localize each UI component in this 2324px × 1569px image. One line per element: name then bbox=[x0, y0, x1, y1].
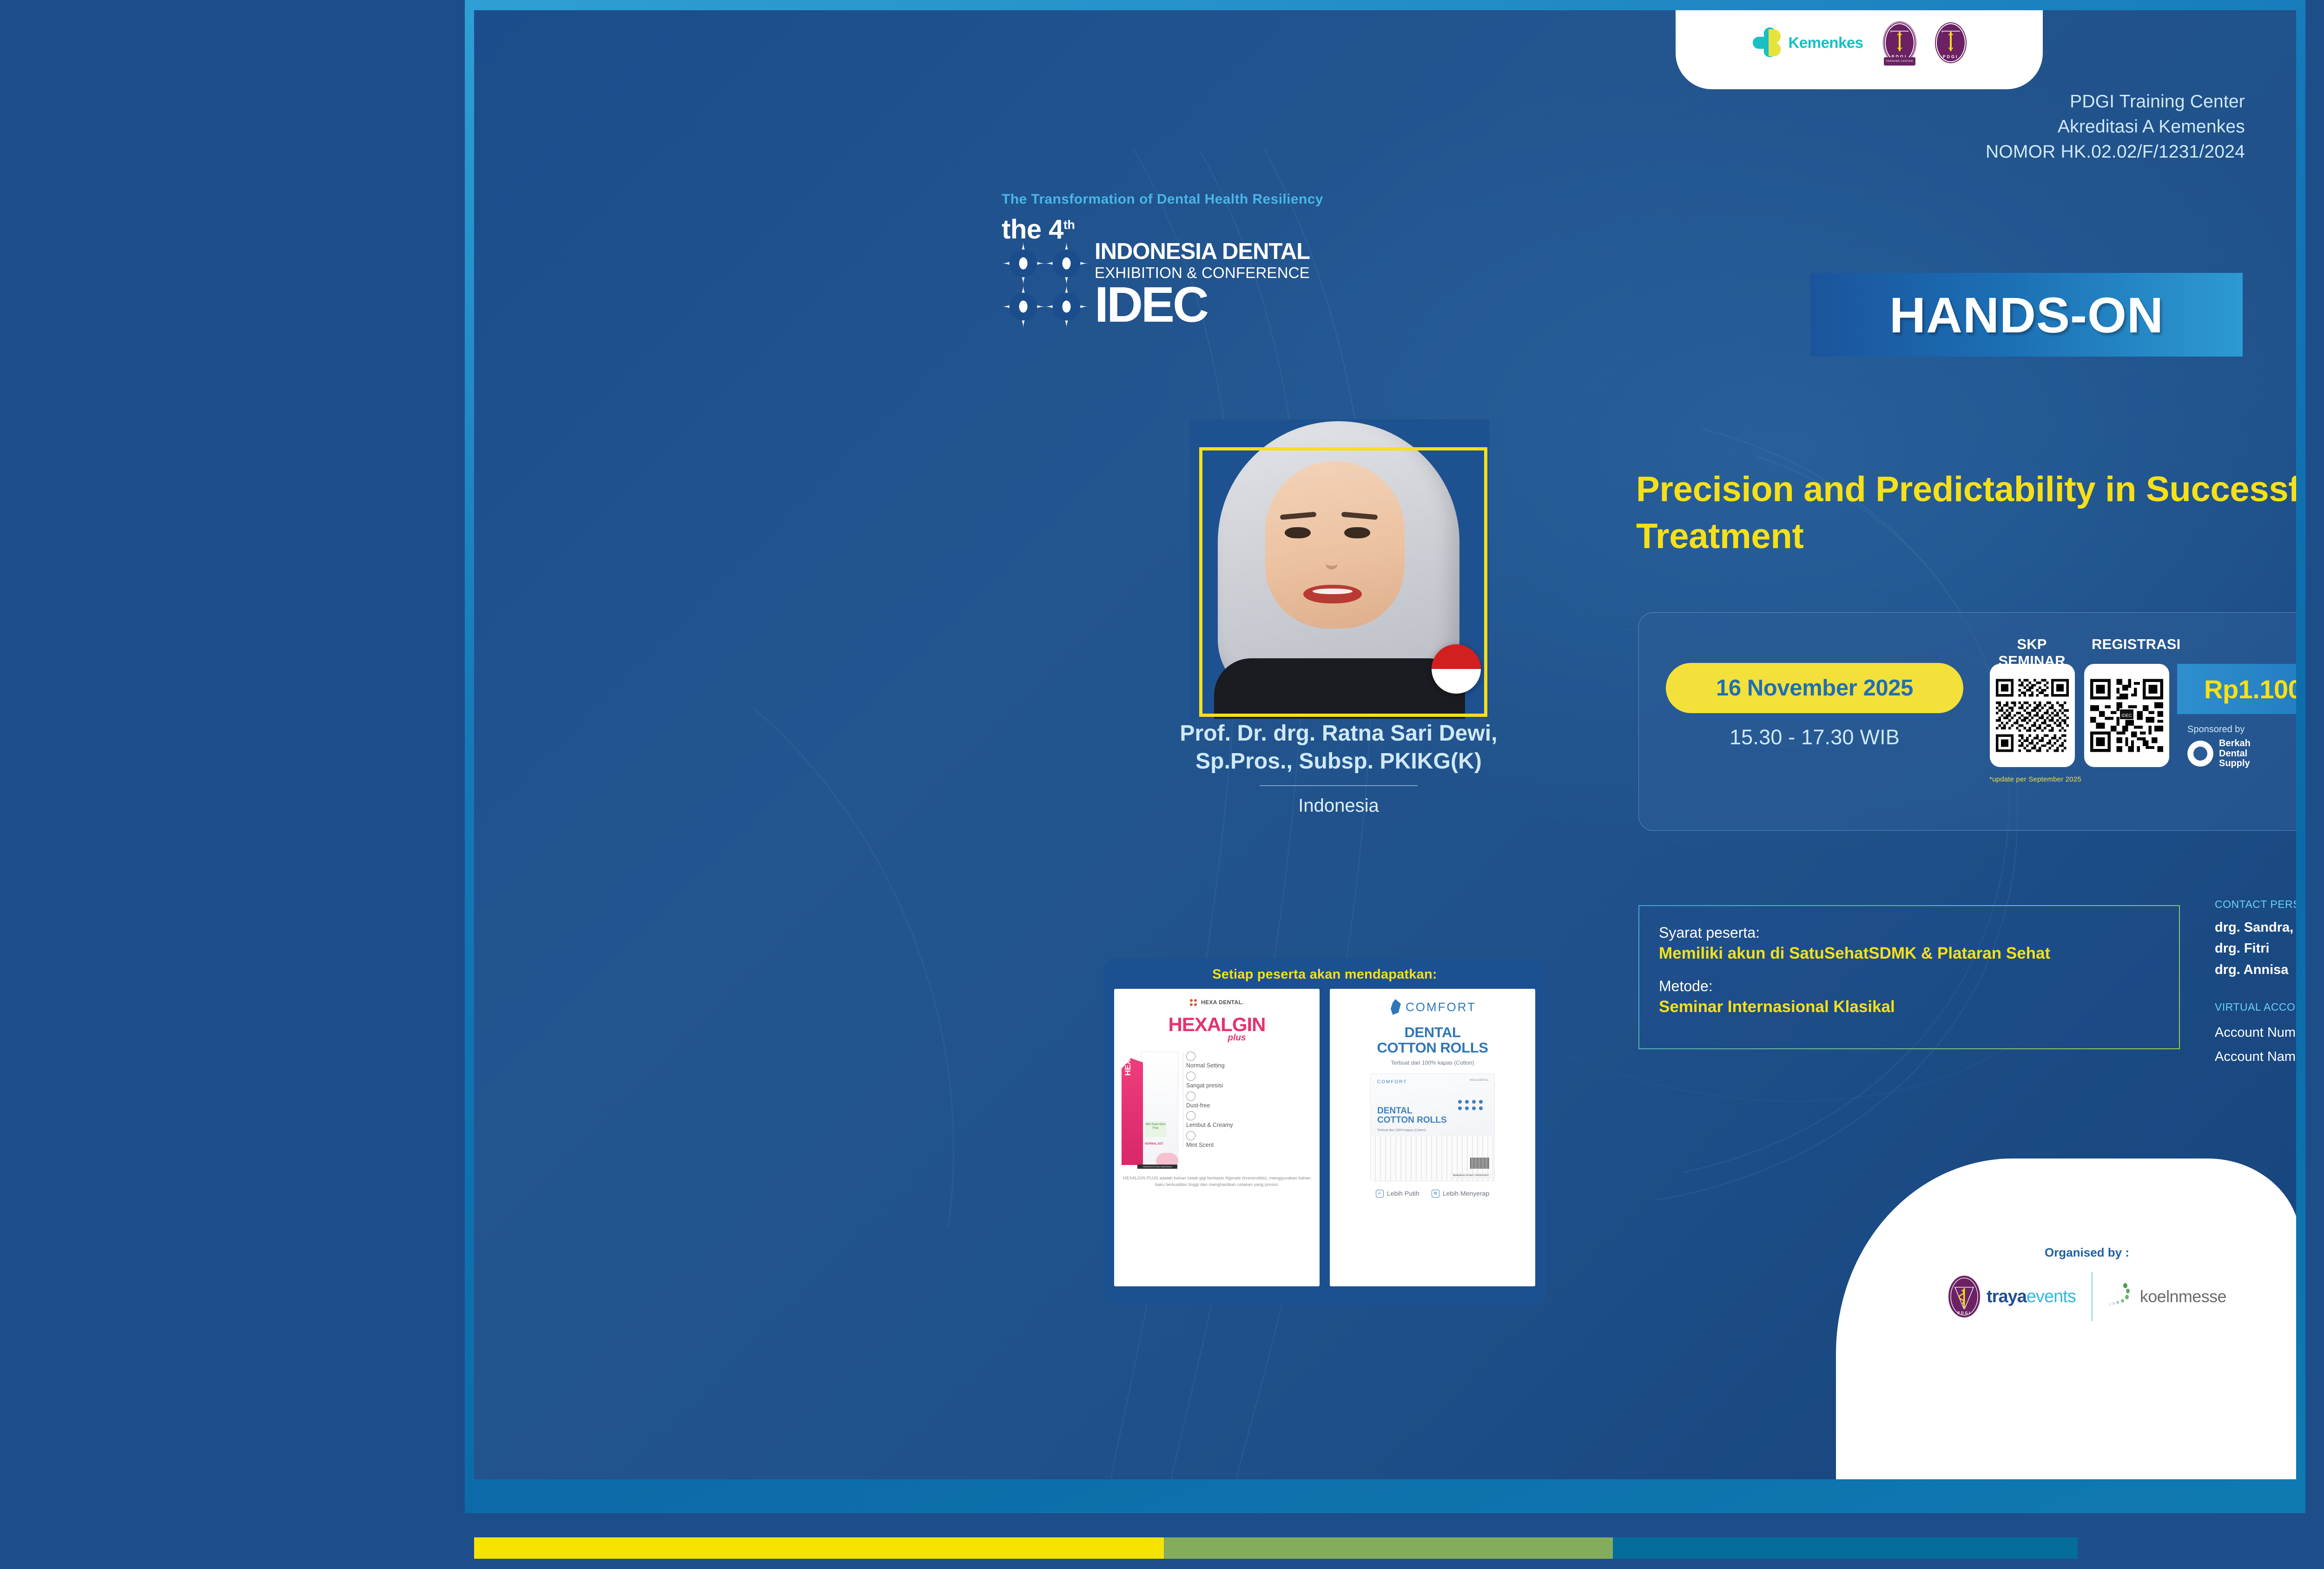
bottom-color-bar bbox=[474, 1537, 2078, 1559]
pack-brand: COMFORT bbox=[1377, 1079, 1407, 1085]
indonesia-flag-icon bbox=[1432, 644, 1481, 694]
cotton-benefit: ≋Lebih Menyerap bbox=[1432, 1190, 1489, 1198]
product-card-cotton-rolls: COMFORT DENTAL COTTON ROLLS Terbuat dari… bbox=[1330, 989, 1535, 1286]
pack-hexa-brand: HEXA DENTAL bbox=[1470, 1079, 1489, 1082]
hexalgin-feature: Mint Scent bbox=[1186, 1131, 1312, 1149]
kemenkes-wordmark: Kemenkes bbox=[1788, 34, 1863, 52]
hexalgin-feature: Sangat presisi bbox=[1186, 1072, 1312, 1089]
contact-name: drg. Fitri bbox=[2215, 938, 2296, 959]
product-card-hexalgin: HEXA DENTAL. HEXALGIN plus HEXALGIN Mint… bbox=[1114, 989, 1320, 1286]
barcode-icon bbox=[1470, 1158, 1490, 1169]
cotton-rolls-title-2: COTTON ROLLS bbox=[1337, 1040, 1528, 1056]
berkah-dental-logo-icon bbox=[2187, 741, 2213, 767]
qr-label-skp: SKP SEMINAR bbox=[1989, 636, 2075, 669]
svg-text:IDEC: IDEC bbox=[2121, 713, 2132, 718]
qr-code-skp-seminar[interactable] bbox=[1990, 664, 2075, 767]
contact-name: drg. Sandra, Sp.Ort bbox=[2215, 917, 2296, 938]
hands-on-label: HANDS-ON bbox=[1889, 286, 2164, 344]
bar-segment-yellow bbox=[474, 1537, 1164, 1559]
session-price-bar: Rp1.100.000,00 bbox=[2177, 664, 2296, 714]
qr-labels: SKP SEMINAR REGISTRASI bbox=[1989, 636, 2178, 669]
svg-text:PDGI: PDGI bbox=[1957, 1311, 1971, 1315]
requirements-box: Syarat peserta: Memiliki akun di SatuSeh… bbox=[1638, 905, 2180, 1049]
qr-code-registrasi[interactable]: IDEC bbox=[2084, 664, 2169, 767]
hexa-dental-brand: HEXA DENTAL. bbox=[1122, 999, 1312, 1006]
sponsor-name: BerkahDentalSupply bbox=[2219, 739, 2251, 769]
pack-subtitle: Terbuat dari 100% kapas (Cotton) bbox=[1377, 1129, 1426, 1132]
gift-title: Setiap peserta akan mendapatkan: bbox=[1114, 967, 1535, 982]
hands-on-badge: HANDS-ON bbox=[1810, 273, 2243, 357]
speaker-block: Prof. Dr. drg. Ratna Sari Dewi, Sp.Pros.… bbox=[1167, 419, 1511, 816]
va-label: Account Number bbox=[2215, 1021, 2296, 1045]
event-tagline: The Transformation of Dental Health Resi… bbox=[1002, 192, 1323, 207]
organisers-block: Organised by : PDGI trayaevents bbox=[1882, 1245, 2291, 1321]
gift-card: Setiap peserta akan mendapatkan: HEXA DE… bbox=[1104, 959, 1545, 1305]
pdgi-training-center-seal-icon: PDGI TRAINING CENTER bbox=[1885, 23, 1915, 62]
speaker-photo-wrap bbox=[1190, 419, 1487, 717]
edition-label: the 4th bbox=[1002, 217, 1323, 242]
cotton-benefit: ✓Lebih Putih bbox=[1376, 1190, 1419, 1198]
hexalgin-pack-vertical-label: HEXALGIN bbox=[1123, 1058, 1133, 1076]
session-price: Rp1.100.000,00 bbox=[2204, 674, 2296, 704]
idec-logo-block: The Transformation of Dental Health Resi… bbox=[1002, 192, 1323, 328]
koelnmesse-logo: koelnmesse bbox=[2108, 1283, 2226, 1310]
speaker-country: Indonesia bbox=[1167, 795, 1511, 816]
speaker-name-line-2: Sp.Pros., Subsp. PKIKG(K) bbox=[1167, 748, 1511, 775]
dust-free-icon bbox=[1186, 1092, 1195, 1101]
cotton-rolls-pack-image: COMFORT HEXA DENTAL DENTALCOTTON ROLLS T… bbox=[1370, 1073, 1495, 1181]
pack-title: DENTALCOTTON ROLLS bbox=[1377, 1106, 1447, 1125]
va-row: Account Number : 9889 5010 2201 5098 bbox=[2215, 1021, 2296, 1045]
contact-row: drg. Sandra, Sp.Ort +62 819 6417 94 bbox=[2215, 917, 2296, 938]
accreditation-line-2: Akreditasi A Kemenkes bbox=[1986, 114, 2245, 139]
hexalgin-name: HEXALGIN bbox=[1122, 1013, 1312, 1036]
feather-icon bbox=[1389, 999, 1402, 1015]
va-row: Account Name : BNI — PB PDGI IDEC 2025 bbox=[2215, 1045, 2296, 1069]
hexalgin-reg-no: KEMENKES RI AKD 20502220434 bbox=[1137, 1165, 1177, 1169]
hexalgin-normal-set: NORMAL SET bbox=[1145, 1143, 1163, 1145]
qr-label-registrasi: REGISTRASI bbox=[2092, 636, 2178, 669]
session-info-card: SKP SEMINAR REGISTRASI 16 November 2025 … bbox=[1638, 612, 2296, 831]
page-background: Kemenkes PDGI TRAINING CENTER PDGI PDGI … bbox=[0, 0, 2324, 1569]
hexalgin-feature: Dust-free bbox=[1186, 1092, 1312, 1109]
pdgi-seal-letters-2: PDGI bbox=[1936, 54, 1966, 59]
session-date-pill: 16 November 2025 bbox=[1666, 663, 1963, 713]
pdgi-seal-banner: TRAINING CENTER bbox=[1884, 57, 1915, 66]
cotton-rolls-title-1: DENTAL bbox=[1337, 1025, 1528, 1040]
accreditation-line-1: PDGI Training Center bbox=[1986, 89, 2245, 114]
pdgi-seal-icon: PDGI bbox=[1936, 23, 1966, 62]
comfort-brand: COMFORT bbox=[1337, 999, 1528, 1015]
pack-dots-icon bbox=[1458, 1100, 1483, 1110]
session-time: 15.30 - 17.30 WIB bbox=[1666, 725, 1963, 749]
koelnmesse-dots-icon bbox=[2108, 1283, 2135, 1310]
clock-icon bbox=[1186, 1052, 1195, 1061]
leaf-icon bbox=[1186, 1131, 1195, 1140]
contact-row: drg. Fitri +62 822 2904 9490 bbox=[2215, 938, 2296, 959]
contact-heading-main: CONTACT PERSON bbox=[2215, 898, 2296, 910]
cotton-rolls-subtitle: Terbuat dari 100% kapas (Cotton) bbox=[1337, 1059, 1528, 1066]
target-icon bbox=[1186, 1072, 1195, 1081]
hexalgin-pack-badge: Mint Scent Dust Free bbox=[1145, 1121, 1166, 1137]
va-label: Account Name bbox=[2215, 1045, 2296, 1069]
sponsor-label: Sponsored by bbox=[2187, 724, 2251, 735]
sponsor-block: Sponsored by BerkahDentalSupply bbox=[2187, 724, 2251, 769]
check-icon: ✓ bbox=[1376, 1190, 1384, 1198]
virtual-account-heading: VIRTUAL ACCOUNT NUMBER bbox=[2215, 1001, 2296, 1013]
absorb-icon: ≋ bbox=[1432, 1190, 1439, 1198]
header-logo-lobe: Kemenkes PDGI TRAINING CENTER PDGI bbox=[1676, 10, 2043, 89]
accreditation-block: PDGI Training Center Akreditasi A Kemenk… bbox=[1986, 89, 2245, 164]
koelnmesse-wordmark: koelnmesse bbox=[2140, 1287, 2226, 1306]
organiser-divider bbox=[2092, 1272, 2093, 1321]
bar-segment-teal bbox=[1613, 1537, 2078, 1559]
poster-card: Kemenkes PDGI TRAINING CENTER PDGI PDGI … bbox=[474, 10, 2296, 1479]
qr-update-note: *update per September 2025 bbox=[1982, 775, 2089, 783]
cotton-reg-no: KEMENKES RI AKD 10609420302 bbox=[1451, 1173, 1491, 1178]
virtual-account-table: Account Number : 9889 5010 2201 5098 Acc… bbox=[2215, 1021, 2296, 1069]
participant-requirement-label: Syarat peserta: bbox=[1659, 923, 2159, 943]
hexalgin-feature: Normal Setting bbox=[1186, 1052, 1312, 1069]
hexa-brand-name: HEXA DENTAL. bbox=[1201, 1000, 1244, 1006]
idec-motif-icon bbox=[1002, 242, 1088, 328]
method-value: Seminar Internasional Klasikal bbox=[1659, 996, 2159, 1018]
accreditation-line-3: NOMOR HK.02.02/F/1231/2024 bbox=[1986, 139, 2245, 165]
bowl-icon bbox=[1186, 1111, 1195, 1120]
kemenkes-logo: Kemenkes bbox=[1753, 28, 1863, 57]
hexalgin-description: HEXALGIN PLUS adalah bahan cetak gigi be… bbox=[1122, 1175, 1312, 1189]
kemenkes-mark-icon bbox=[1753, 28, 1782, 57]
participant-requirement-value: Memiliki akun di SatuSehatSDMK & Platara… bbox=[1659, 943, 2159, 964]
contact-table: drg. Sandra, Sp.Ort +62 819 6417 94 drg.… bbox=[2215, 917, 2296, 980]
traya-wordmark: trayaevents bbox=[1987, 1287, 2076, 1307]
contact-row: drg. Annisa +62 819 5090 409 bbox=[2215, 960, 2296, 980]
speaker-name: Prof. Dr. drg. Ratna Sari Dewi, Sp.Pros.… bbox=[1167, 720, 1511, 775]
hexalgin-feature: Lembut & Creamy bbox=[1186, 1111, 1312, 1129]
hexalgin-feature-list: Normal Setting Sangat presisi Dust-free … bbox=[1183, 1052, 1312, 1149]
traya-events-logo: PDGI trayaevents bbox=[1948, 1274, 2076, 1319]
method-label: Metode: bbox=[1659, 976, 2159, 996]
hexalgin-pack-image: HEXALGIN Mint Scent Dust Free NORMAL SET… bbox=[1122, 1052, 1178, 1168]
comfort-wordmark: COMFORT bbox=[1406, 1000, 1476, 1014]
idec-acronym: IDEC bbox=[1095, 283, 1310, 326]
organised-by-label: Organised by : bbox=[1882, 1245, 2291, 1260]
session-date: 16 November 2025 bbox=[1716, 675, 1913, 701]
session-title: Precision and Predictability in Successf… bbox=[1636, 466, 2296, 560]
contact-name: drg. Annisa bbox=[2215, 960, 2296, 980]
bar-segment-green bbox=[1164, 1537, 1613, 1559]
speaker-name-line-1: Prof. Dr. drg. Ratna Sari Dewi, bbox=[1167, 720, 1511, 748]
speaker-divider bbox=[1260, 785, 1418, 786]
contact-heading: CONTACT PERSON (WhatsApp Only) bbox=[2215, 898, 2296, 911]
idec-name-line-1: INDONESIA DENTAL bbox=[1095, 240, 1310, 263]
contact-block: CONTACT PERSON (WhatsApp Only) drg. Sand… bbox=[2215, 898, 2296, 1069]
hexa-dots-icon bbox=[1190, 999, 1197, 1006]
pdgi-footer-seal-icon: PDGI bbox=[1948, 1274, 1981, 1319]
